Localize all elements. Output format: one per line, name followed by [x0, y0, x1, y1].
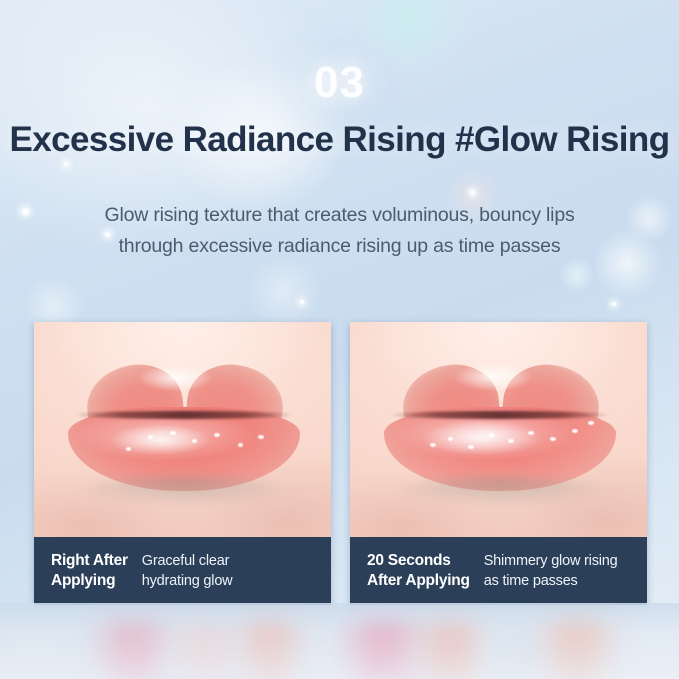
bokeh-circle: [248, 256, 320, 328]
gloss-speck: [258, 434, 264, 438]
mouth-line: [74, 410, 294, 418]
comparison-panels: Right After Applying Graceful clear hydr…: [34, 322, 647, 605]
caption-label: Right After Applying: [51, 551, 128, 591]
lips-photo-20-seconds: [350, 322, 647, 537]
gloss-speck: [550, 436, 556, 440]
blurred-product: [352, 611, 414, 679]
sparkle-dot: [470, 190, 475, 195]
sparkle-dot: [64, 162, 68, 166]
blurred-product: [494, 619, 542, 679]
gloss-speck: [588, 420, 594, 424]
lips-photo-right-after: [34, 322, 331, 537]
lower-lip-shadow: [82, 476, 286, 504]
caption-description: Graceful clear hydrating glow: [142, 551, 233, 591]
gloss-speck: [238, 442, 243, 446]
comparison-panel-right-after: Right After Applying Graceful clear hydr…: [34, 322, 331, 605]
blurred-product: [548, 609, 606, 679]
bokeh-circle: [560, 258, 594, 292]
blurred-product: [104, 611, 162, 679]
gloss-speck: [572, 428, 578, 432]
blurred-product: [178, 617, 230, 679]
gloss-speck: [430, 442, 436, 446]
mouth-line: [390, 410, 610, 418]
lips-illustration: [52, 358, 314, 506]
gloss-speck: [192, 438, 197, 442]
caption-description: Shimmery glow rising as time passes: [484, 551, 618, 591]
bottom-blurred-products: [0, 603, 679, 679]
gloss-speck: [528, 430, 534, 434]
blurred-product: [246, 609, 294, 679]
subtitle-line-1: Glow rising texture that creates volumin…: [0, 200, 679, 231]
comparison-panel-20-seconds: 20 Seconds After Applying Shimmery glow …: [350, 322, 647, 605]
gloss-speck: [508, 438, 514, 442]
gloss-speck: [468, 444, 474, 448]
page-title: Excessive Radiance Rising #Glow Rising: [0, 120, 679, 160]
lips-illustration: [368, 358, 630, 506]
gloss-highlight: [422, 420, 540, 454]
page-subtitle: Glow rising texture that creates volumin…: [0, 200, 679, 262]
gloss-speck: [488, 432, 495, 437]
caption-label: 20 Seconds After Applying: [367, 551, 470, 591]
gloss-highlight: [454, 362, 532, 390]
gloss-speck: [448, 436, 453, 440]
panel-caption-20-seconds: 20 Seconds After Applying Shimmery glow …: [350, 537, 647, 605]
gloss-speck: [148, 434, 153, 438]
gloss-speck: [214, 432, 220, 436]
section-number: 03: [0, 58, 679, 108]
gloss-speck: [126, 446, 131, 450]
subtitle-line-2: through excessive radiance rising up as …: [0, 231, 679, 262]
sparkle-dot: [300, 300, 304, 304]
blurred-product: [0, 619, 70, 679]
panel-caption-right-after: Right After Applying Graceful clear hydr…: [34, 537, 331, 605]
promo-page: 03 Excessive Radiance Rising #Glow Risin…: [0, 0, 679, 679]
gloss-speck: [170, 430, 176, 434]
lower-lip-shadow: [398, 476, 602, 504]
blurred-product: [424, 615, 478, 679]
gloss-highlight: [138, 364, 212, 390]
sparkle-dot: [612, 302, 616, 306]
